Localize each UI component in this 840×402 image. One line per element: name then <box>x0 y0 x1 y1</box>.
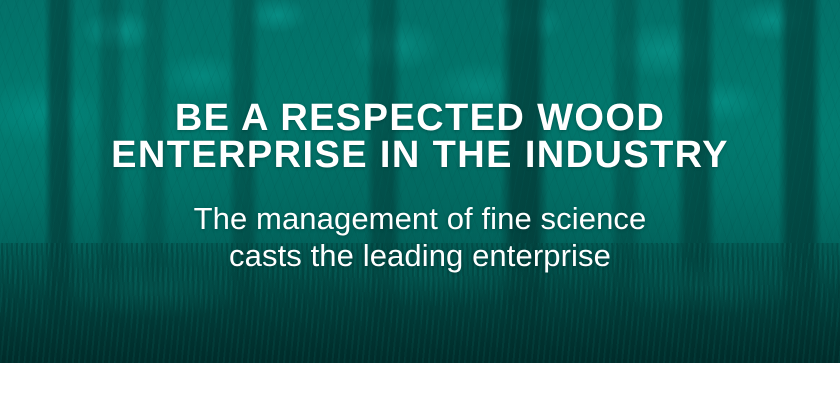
hero-headline: BE A RESPECTED WOOD ENTERPRISE IN THE IN… <box>0 100 840 174</box>
hero-copy-block: BE A RESPECTED WOOD ENTERPRISE IN THE IN… <box>0 100 840 274</box>
hero-subheadline-line-2: casts the leading enterprise <box>0 237 840 274</box>
hero-subheadline: The management of fine science casts the… <box>0 200 840 274</box>
hero-headline-line-1: BE A RESPECTED WOOD <box>0 100 840 137</box>
hero-subheadline-line-1: The management of fine science <box>0 200 840 237</box>
hero-banner: BE A RESPECTED WOOD ENTERPRISE IN THE IN… <box>0 0 840 363</box>
hero-headline-line-2: ENTERPRISE IN THE INDUSTRY <box>0 137 840 174</box>
page-body-whitespace <box>0 363 840 402</box>
